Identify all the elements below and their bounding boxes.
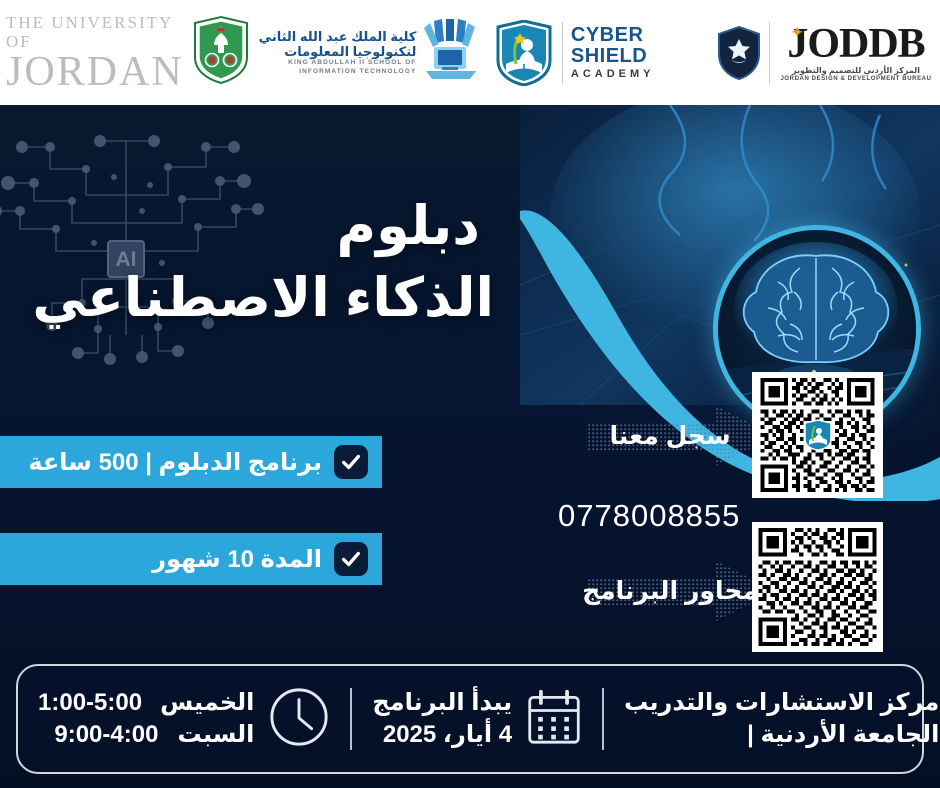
schedule-day: الخميس xyxy=(160,687,254,719)
footer-divider-2 xyxy=(602,688,604,750)
footer-schedule: الخميس 1:00-5:00 السبت 9:00-4:00 xyxy=(18,686,350,753)
check-icon xyxy=(334,445,368,479)
uj-wordmark: THE UNIVERSITY OF JORDAN xyxy=(6,13,184,93)
uj-line1: THE UNIVERSITY OF xyxy=(6,13,184,51)
feature-bar: برنامج الدبلوم | 500 ساعة xyxy=(0,436,382,488)
feature-label: المدة 10 شهور xyxy=(152,545,322,574)
check-icon xyxy=(334,542,368,576)
kasit-crest-icon xyxy=(496,20,552,86)
title-line-2: الذكاء الاصطناعي xyxy=(32,268,494,328)
kasit-mark-icon xyxy=(422,17,484,88)
poster-title: دبلوم الذكاء الاصطناعي xyxy=(337,196,480,256)
header-divider-2 xyxy=(562,22,563,84)
kasit-arabic-line2: لتكنولوجيا المعلومات xyxy=(259,44,417,59)
header-logo-band: ✦ JODDB المركز الأردني للتصميم والتطوير … xyxy=(0,0,940,105)
schedule-time: 1:00-5:00 xyxy=(38,687,142,719)
joddb-arabic-subtitle: المركز الأردني للتصميم والتطوير xyxy=(792,66,920,75)
register-arrow-label: سجل معنا xyxy=(580,400,780,472)
register-qr-code[interactable] xyxy=(752,372,883,498)
footer-divider xyxy=(350,688,352,750)
kasit-english-line1: KING ABDULLAH II SCHOOL OF xyxy=(259,59,417,68)
feature-label: برنامج الدبلوم | 500 ساعة xyxy=(28,448,322,477)
cyber-shield-academy-logo: CYBER SHIELD ACADEMY xyxy=(571,0,761,105)
calendar-icon xyxy=(526,688,582,751)
start-line-2: 4 أيار، 2025 xyxy=(383,721,512,748)
start-line-1: يبدأ البرنامج xyxy=(372,689,512,716)
feature-bar: المدة 10 شهور xyxy=(0,533,382,585)
kasit-crest-logo xyxy=(493,0,553,105)
uj-crest-icon: ـ xyxy=(190,15,250,90)
shield-icon xyxy=(717,26,761,80)
joddb-logo: ✦ JODDB المركز الأردني للتصميم والتطوير … xyxy=(778,0,934,105)
kasit-wordmark: كلية الملك عبد الله الثاني لتكنولوجيا ال… xyxy=(259,29,417,76)
topics-arrow-label: محاور البرنامج xyxy=(580,555,780,627)
schedule-row: السبت 9:00-4:00 xyxy=(38,719,254,751)
footer-location: مركز الاستشارات والتدريب الجامعة الأردني… xyxy=(604,687,940,752)
kasit-logo: كلية الملك عبد الله الثاني لتكنولوجيا ال… xyxy=(250,0,494,105)
kasit-arabic-line1: كلية الملك عبد الله الثاني xyxy=(259,29,417,44)
schedule-text: الخميس 1:00-5:00 السبت 9:00-4:00 xyxy=(38,687,254,751)
university-of-jordan-logo: ـ THE UNIVERSITY OF JORDAN xyxy=(6,0,250,105)
joddb-english-subtitle: JORDAN DESIGN & DEVELOPMENT BUREAU xyxy=(780,76,931,82)
cyber-shield-line1: CYBER SHIELD xyxy=(571,25,710,67)
qr-center-logo xyxy=(803,419,833,451)
circuit-brain-graphic: AI xyxy=(0,105,266,393)
footer-info-bar: الخميس 1:00-5:00 السبت 9:00-4:00 xyxy=(16,664,924,774)
title-line-1: دبلوم xyxy=(337,196,480,256)
cyber-shield-line2: ACADEMY xyxy=(571,67,710,81)
clock-icon xyxy=(268,686,330,753)
location-line-1: مركز الاستشارات والتدريب xyxy=(624,689,939,716)
joddb-star-icon: ✦ xyxy=(791,13,802,55)
phone-number[interactable]: 0778008855 xyxy=(558,498,740,534)
qr-matrix xyxy=(758,528,877,646)
location-line-2: الجامعة الأردنية | xyxy=(747,721,939,748)
joddb-wordmark-text: JODDB xyxy=(787,21,924,67)
poster-root: ✦ JODDB المركز الأردني للتصميم والتطوير … xyxy=(0,0,940,788)
joddb-wordmark: ✦ JODDB xyxy=(787,23,924,65)
schedule-row: الخميس 1:00-5:00 xyxy=(38,687,254,719)
footer-start-date: يبدأ البرنامج 4 أيار، 2025 xyxy=(352,687,602,751)
uj-line2: JORDAN xyxy=(6,51,184,93)
kasit-english-line2: INFORMATION TECHNOLOGY xyxy=(259,68,417,77)
register-label: سجل معنا xyxy=(609,421,730,451)
header-divider xyxy=(769,22,770,84)
schedule-time: 9:00-4:00 xyxy=(54,719,158,751)
location-text: مركز الاستشارات والتدريب الجامعة الأردني… xyxy=(624,687,939,751)
topics-qr-code[interactable] xyxy=(752,522,883,652)
cyber-shield-wordmark: CYBER SHIELD ACADEMY xyxy=(571,25,710,81)
start-date-text: يبدأ البرنامج 4 أيار، 2025 xyxy=(372,687,512,751)
topics-label: محاور البرنامج xyxy=(582,576,758,606)
schedule-day: السبت xyxy=(176,719,254,751)
